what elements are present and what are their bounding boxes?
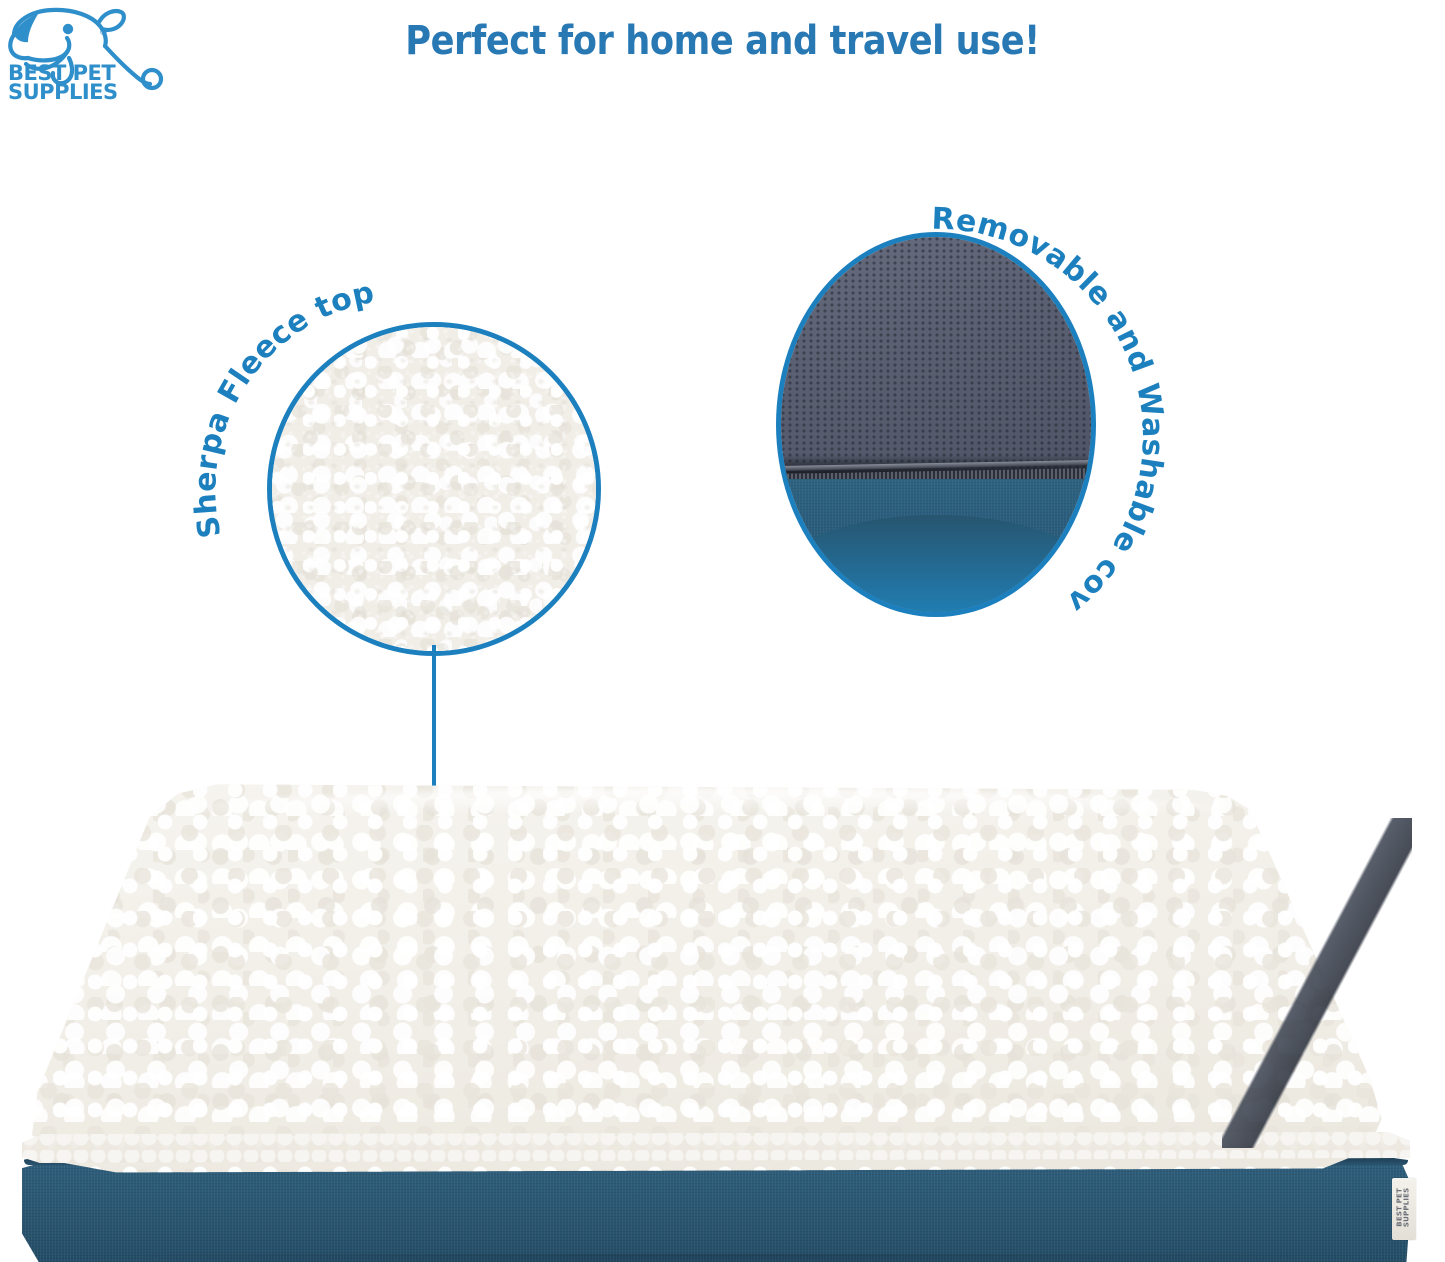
sherpa-fleece-swatch (267, 322, 601, 656)
brand-logo-wordmark: BEST PET SUPPLIES (8, 64, 158, 103)
fleece-texture-detail (272, 327, 596, 651)
headline: Perfect for home and travel use! (87, 18, 1359, 64)
bed-brand-tag-line2: SUPPLIES (1404, 1175, 1411, 1239)
mesh-fabric-texture (781, 237, 1091, 473)
bed-fleece-top (18, 782, 1418, 1174)
bed-brand-tag-label: BEST PET SUPPLIES (1397, 1175, 1412, 1239)
product-infographic: ® BEST PET SUPPLIES Perfect for home and… (0, 0, 1445, 1262)
dog-bed-product-photo: BEST PET SUPPLIES (0, 760, 1445, 1262)
bed-side-panel (22, 1160, 1412, 1262)
bed-right-corner-shadow (1222, 818, 1412, 1148)
bed-drop-shadow (60, 1254, 1380, 1262)
brand-logo-line2: SUPPLIES (8, 83, 158, 102)
washable-cover-swatch (776, 232, 1096, 617)
